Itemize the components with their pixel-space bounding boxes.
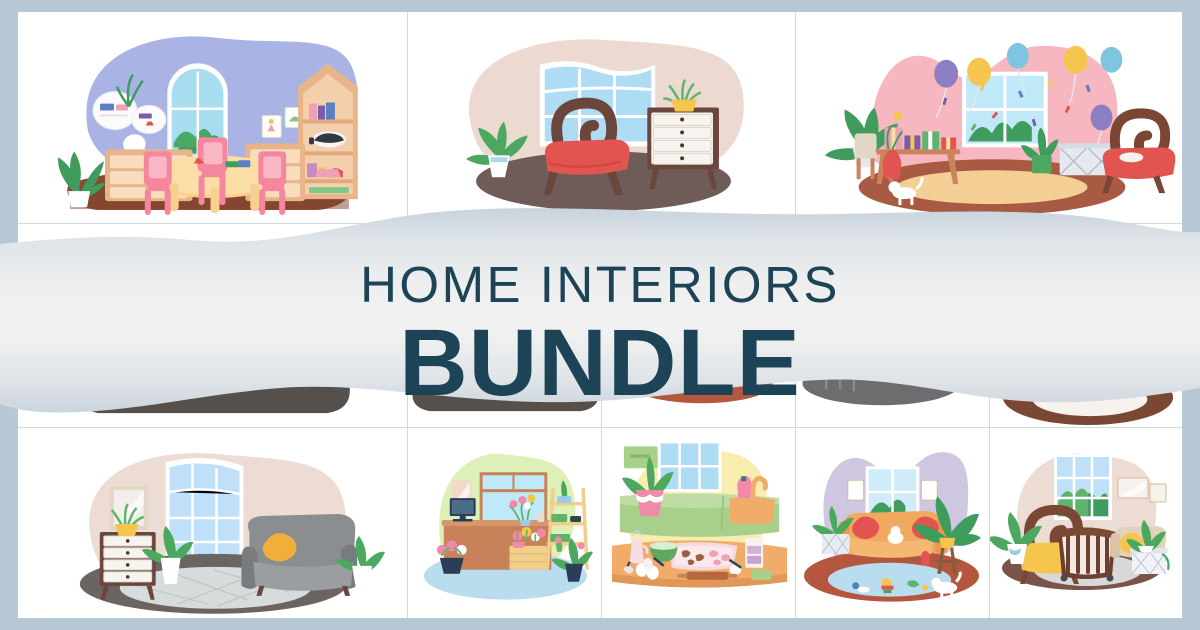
thumbnail-birthday-party-room[interactable] [796,12,1182,224]
scene-kids-playroom [18,12,407,223]
scene-armchair-living-room [408,12,795,223]
scene-terracotta-rug-2 [602,330,795,427]
scene-terracotta-rug-room [602,224,795,329]
thumbnail-nursery-crib[interactable] [990,428,1182,618]
thumbnail-terracotta-rug-room[interactable] [602,224,796,330]
thumbnail-terracotta-rug-room-2[interactable] [602,330,796,428]
scene-green-wall-sofa-2 [990,330,1182,427]
scene-gray-sofa-living-room [18,428,407,618]
scene-gray-stool-2 [796,330,989,427]
thumbnail-orange-sofa-playroom[interactable] [796,428,990,618]
scene-nursery-crib [990,428,1182,618]
poster-canvas: HOME INTERIORS BUNDLE [0,0,1200,630]
scene-wood-floor-dining [408,330,601,427]
thumbnail-flower-shop[interactable] [408,428,602,618]
thumbnail-grid [18,12,1182,618]
scene-beige-hall [18,224,407,427]
thumbnail-wood-floor-dining[interactable] [408,330,602,428]
scene-flower-shop [408,428,601,618]
thumbnail-kitchen-baking[interactable] [602,428,796,618]
thumbnail-green-wall-sofa[interactable] [990,224,1182,330]
scene-blue-room [408,224,601,329]
thumbnail-armchair-living-room[interactable] [408,12,796,224]
scene-orange-sofa-playroom [796,428,989,618]
scene-gray-stool-corner [796,224,989,329]
thumbnail-blue-room[interactable] [408,224,602,330]
scene-green-wall-sofa [990,224,1182,329]
thumbnail-kids-playroom[interactable] [18,12,408,224]
thumbnail-gray-stool-corner[interactable] [796,224,990,330]
scene-birthday-party-room [796,12,1182,223]
thumbnail-gray-stool-corner-2[interactable] [796,330,990,428]
thumbnail-beige-hall[interactable] [18,224,408,428]
thumbnail-gray-sofa-living-room[interactable] [18,428,408,618]
scene-kitchen-baking [602,428,795,618]
thumbnail-green-wall-sofa-2[interactable] [990,330,1182,428]
